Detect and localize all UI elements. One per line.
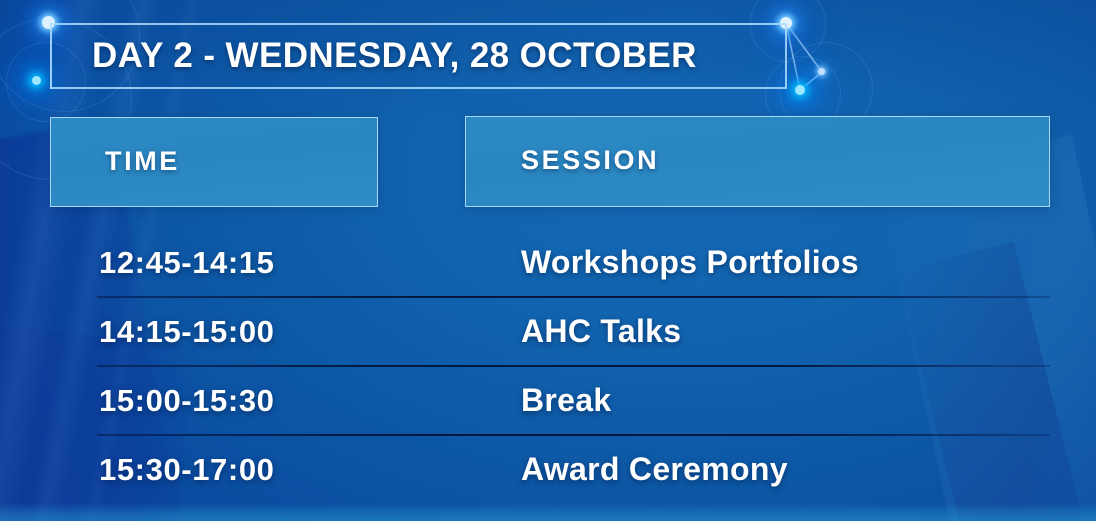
table-row: 14:15-15:00 AHC Talks (0, 297, 1096, 366)
row-session: Workshops Portfolios (521, 228, 859, 297)
row-session: AHC Talks (521, 297, 681, 366)
row-session: Break (521, 366, 611, 435)
schedule-table-body: 12:45-14:15 Workshops Portfolios 14:15-1… (0, 0, 1096, 521)
row-time: 14:15-15:00 (99, 297, 275, 366)
row-time: 15:00-15:30 (99, 366, 275, 435)
row-time: 15:30-17:00 (99, 435, 275, 504)
row-session: Award Ceremony (521, 435, 788, 504)
table-row: 15:30-17:00 Award Ceremony (0, 435, 1096, 504)
slide-root: DAY 2 - WEDNESDAY, 28 OCTOBER TIME SESSI… (0, 0, 1096, 521)
table-row: 15:00-15:30 Break (0, 366, 1096, 435)
table-row: 12:45-14:15 Workshops Portfolios (0, 228, 1096, 297)
row-time: 12:45-14:15 (99, 228, 275, 297)
